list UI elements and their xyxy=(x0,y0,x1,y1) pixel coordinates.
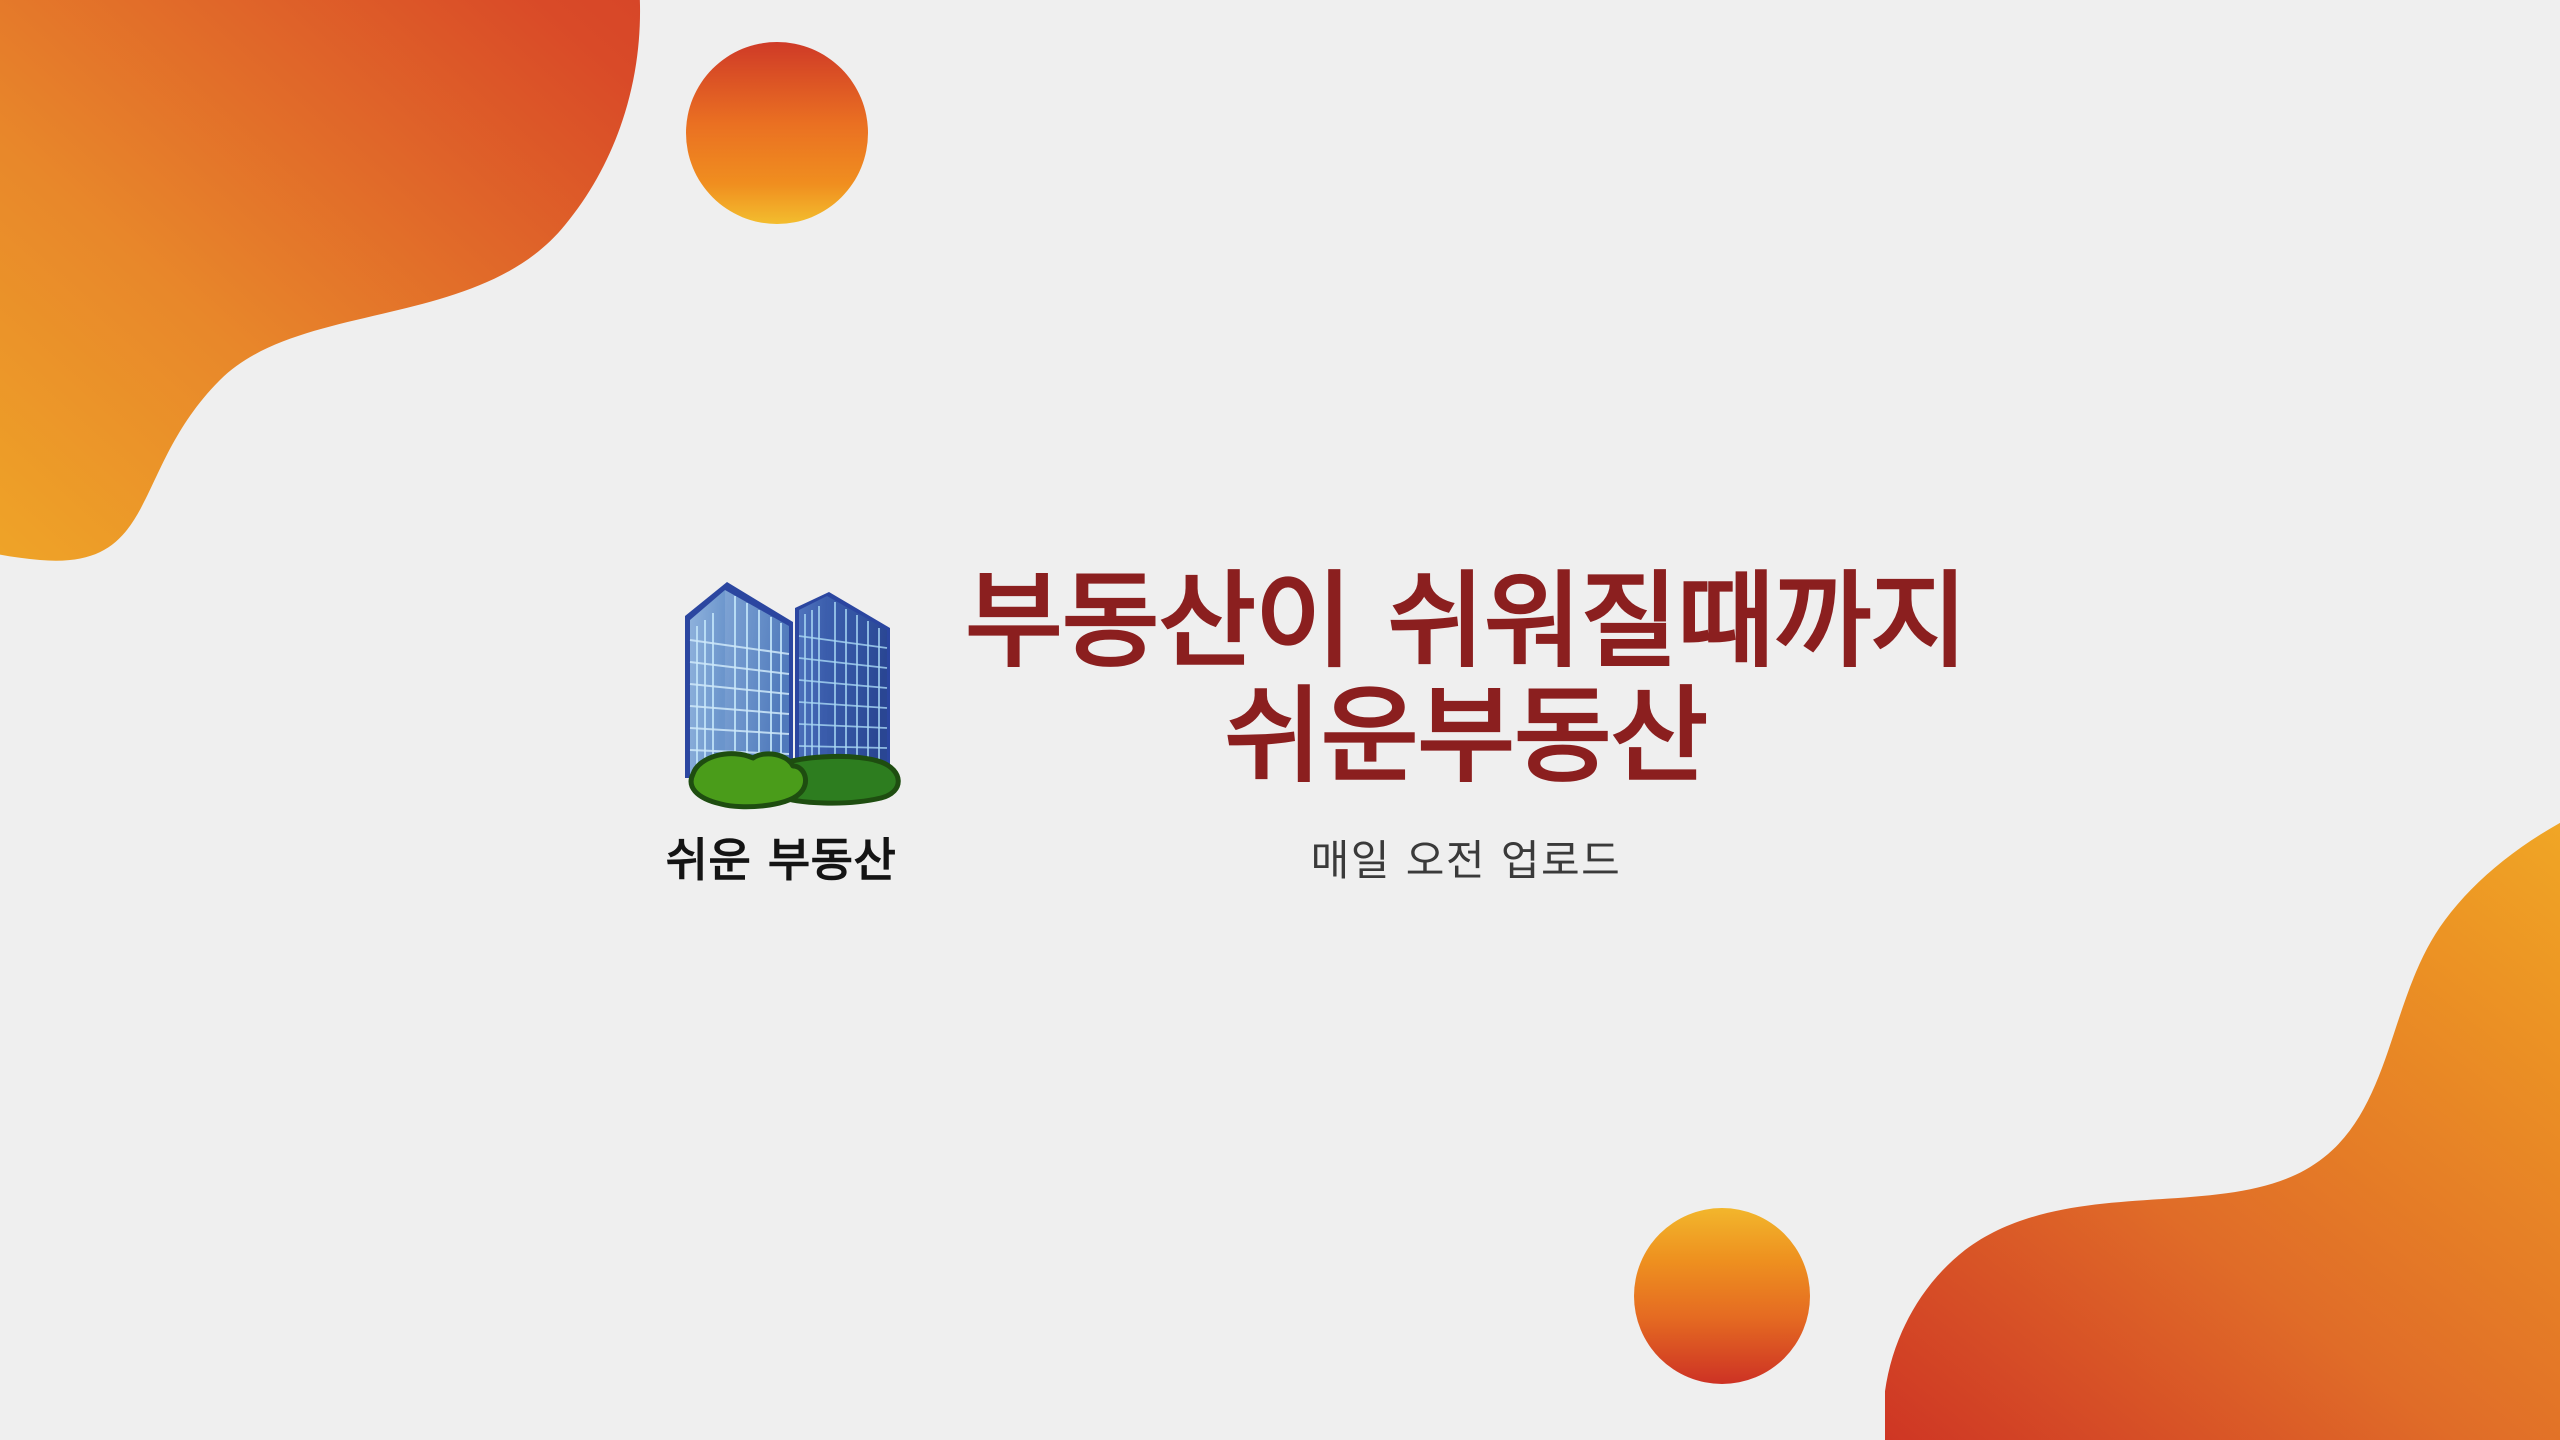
headline-line-1: 부동산이 쉬워질때까지 xyxy=(965,566,1967,676)
logo-wordmark: 쉬운 부동산 xyxy=(666,824,897,890)
twin-skyscrapers-icon xyxy=(647,570,915,828)
brand-logo: 쉬운 부동산 xyxy=(631,570,931,890)
slide-canvas: 쉬운 부동산 부동산이 쉬워질때까지 쉬운부동산 매일 오전 업로드 xyxy=(0,0,2560,1440)
slide-content: 쉬운 부동산 부동산이 쉬워질때까지 쉬운부동산 매일 오전 업로드 xyxy=(0,0,2560,1440)
content-inner: 쉬운 부동산 부동산이 쉬워질때까지 쉬운부동산 매일 오전 업로드 xyxy=(631,566,1957,893)
headline-block: 부동산이 쉬워질때까지 쉬운부동산 매일 오전 업로드 xyxy=(975,566,1957,893)
headline-line-2: 쉬운부동산 xyxy=(1225,681,1708,791)
subtitle: 매일 오전 업로드 xyxy=(1311,827,1622,888)
